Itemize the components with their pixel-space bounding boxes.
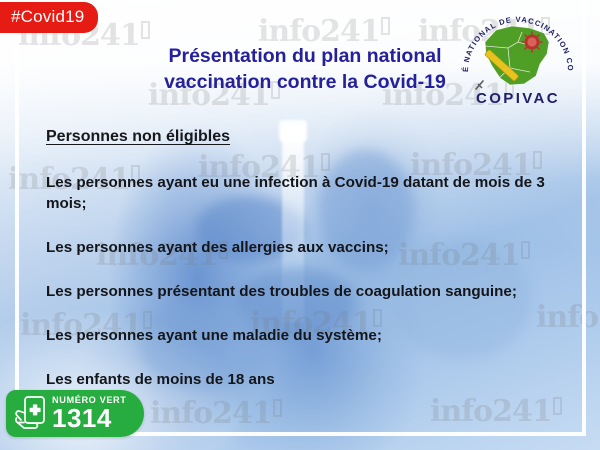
slide-title-line-2: vaccination contre la Covid-19: [150, 70, 460, 96]
hand-holding-phone-with-cross-icon: [12, 394, 50, 434]
slide-title: Présentation du plan national vaccinatio…: [150, 44, 460, 96]
copivac-logo: COMITÉ NATIONAL DE VACCINATION COVID-19: [452, 2, 584, 110]
slide-canvas: info241 info241 info241 info241 info241 …: [0, 0, 600, 450]
ineligibility-list: Les personnes ayant eu une infection à C…: [46, 173, 562, 391]
virus-icon: [522, 32, 542, 52]
covid19-hashtag-badge: #Covid19: [0, 2, 98, 33]
slide-title-line-1: Présentation du plan national: [150, 44, 460, 70]
hotline-number: 1314: [52, 405, 127, 431]
slide-content: Personnes non éligibles Les personnes ay…: [46, 128, 562, 391]
ineligibility-item: Les personnes ayant des allergies aux va…: [46, 238, 562, 259]
copivac-wordmark: COPIVAC: [476, 90, 560, 107]
hotline-badge: NUMÉRO VERT 1314: [6, 390, 144, 437]
section-heading: Personnes non éligibles: [46, 128, 562, 146]
ineligibility-item: Les personnes présentant des troubles de…: [46, 282, 562, 303]
ineligibility-item: Les personnes ayant une maladie du systè…: [46, 326, 562, 347]
ineligibility-item: Les personnes ayant eu une infection à C…: [46, 173, 562, 215]
hotline-text: NUMÉRO VERT 1314: [52, 396, 127, 431]
ineligibility-item: Les enfants de moins de 18 ans: [46, 370, 562, 391]
